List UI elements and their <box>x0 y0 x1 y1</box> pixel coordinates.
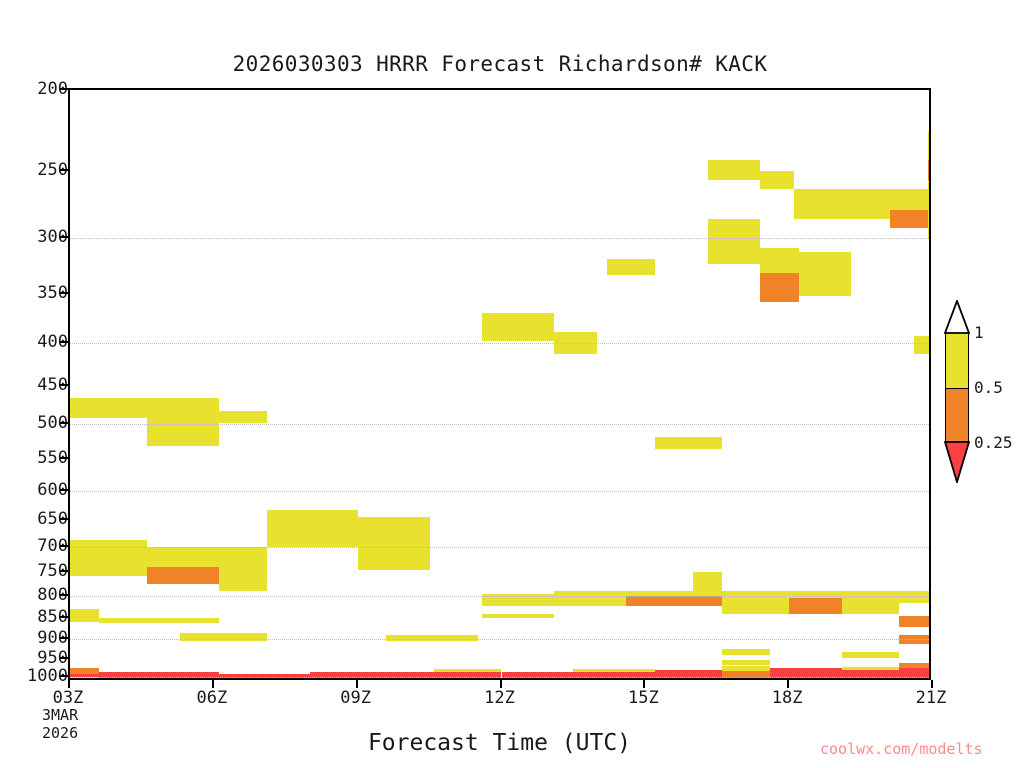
plot-area <box>68 88 931 680</box>
y-axis-tick-mark <box>60 292 68 294</box>
x-axis-tick-label: 03Z <box>33 688 103 708</box>
y-axis-tick-mark <box>60 675 68 677</box>
x-axis-tick-label: 06Z <box>177 688 247 708</box>
y-axis-tick-mark <box>60 545 68 547</box>
chart-title: 2026030303 HRRR Forecast Richardson# KAC… <box>0 52 1000 76</box>
colorbar-tick-label: 1 <box>974 323 984 342</box>
y-axis-tick-mark <box>60 616 68 618</box>
colorbar-legend: 10.50.25 <box>938 300 1024 500</box>
y-axis-tick-mark <box>60 169 68 171</box>
y-axis: 2002503003504004505005506006507007508008… <box>0 88 68 680</box>
x-axis-tick-label: 12Z <box>465 688 535 708</box>
y-axis-tick-mark <box>60 570 68 572</box>
watermark: coolwx.com/modelts <box>820 740 983 758</box>
x-axis-title: Forecast Time (UTC) <box>68 730 931 756</box>
colorbar-bottom-arrow-icon <box>944 441 970 483</box>
x-axis-tick-label: 18Z <box>752 688 822 708</box>
y-axis-tick-mark <box>60 637 68 639</box>
colorbar-top-arrow-icon <box>944 300 970 334</box>
y-axis-tick-mark <box>60 518 68 520</box>
x-axis-tick-mark <box>787 680 789 688</box>
x-axis-tick-mark <box>356 680 358 688</box>
colorbar-segment <box>946 388 968 442</box>
y-axis-tick-mark <box>60 236 68 238</box>
x-axis-tick-label: 15Z <box>608 688 678 708</box>
terrain-band <box>70 90 929 678</box>
colorbar-tick-label: 0.5 <box>974 378 1003 397</box>
y-axis-tick-mark <box>60 594 68 596</box>
y-axis-tick-mark <box>60 384 68 386</box>
y-axis-tick-mark <box>60 341 68 343</box>
x-axis-tick-mark <box>643 680 645 688</box>
x-axis-tick-mark <box>931 680 933 688</box>
colorbar-tick-label: 0.25 <box>974 433 1013 452</box>
x-axis-tick-mark <box>500 680 502 688</box>
colorbar-body <box>945 332 969 442</box>
x-axis-tick-mark <box>68 680 70 688</box>
y-axis-tick-mark <box>60 489 68 491</box>
x-axis-tick-mark <box>212 680 214 688</box>
y-axis-tick-mark <box>60 457 68 459</box>
y-axis-tick-mark <box>60 422 68 424</box>
chart-root: 2026030303 HRRR Forecast Richardson# KAC… <box>0 0 1024 768</box>
x-axis-tick-label: 21Z <box>896 688 966 708</box>
x-axis-tick-label: 09Z <box>321 688 391 708</box>
y-axis-tick-mark <box>60 88 68 90</box>
colorbar-segment <box>946 333 968 388</box>
y-axis-tick-mark <box>60 657 68 659</box>
